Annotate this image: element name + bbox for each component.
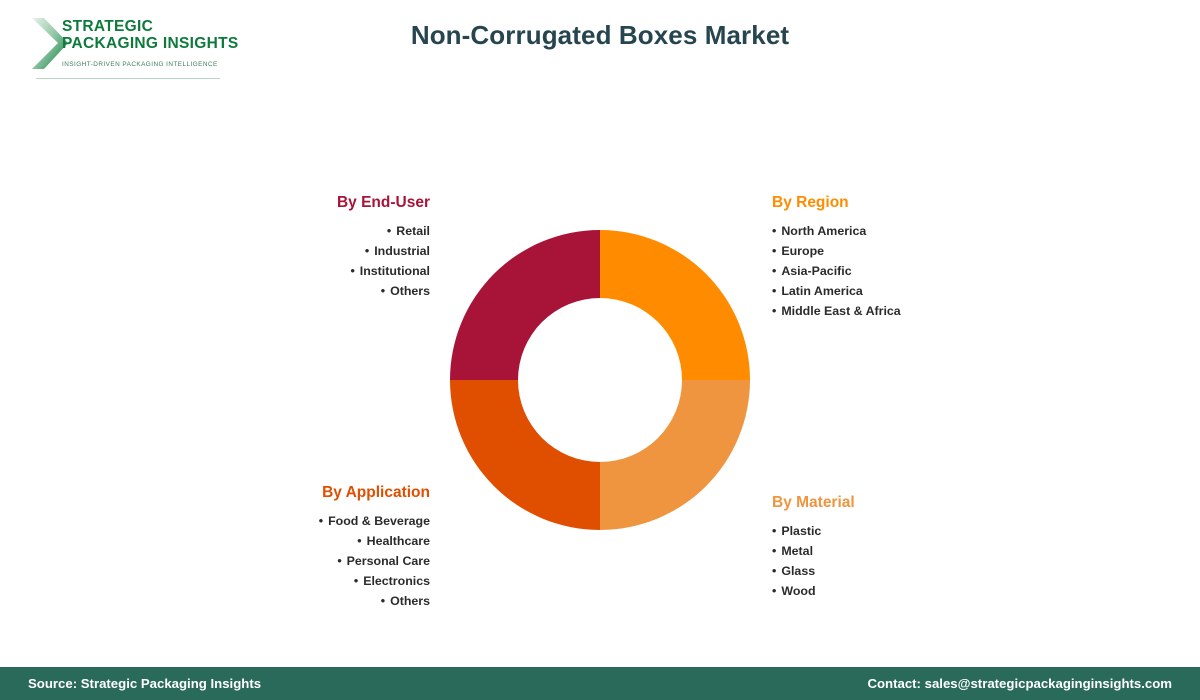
segment-application: By Application Food & Beverage Healthcar… [200,484,430,611]
list-item: Wood [772,581,992,601]
list-item: Industrial [230,241,430,261]
segment-region-list: North America Europe Asia-Pacific Latin … [772,221,1022,321]
segment-region-heading: By Region [772,194,1022,212]
donut-chart-svg [450,230,750,530]
footer-bar: Source: Strategic Packaging Insights Con… [0,667,1200,700]
list-item: Metal [772,541,992,561]
page-title: Non-Corrugated Boxes Market [0,20,1200,51]
donut-slice-material [600,380,750,530]
footer-source: Source: Strategic Packaging Insights [28,676,261,691]
list-item: Personal Care [200,551,430,571]
list-item: North America [772,221,1022,241]
segment-end-user-heading: By End-User [230,194,430,212]
segment-material-list: Plastic Metal Glass Wood [772,521,992,601]
logo-tagline: INSIGHT-DRIVEN PACKAGING INTELLIGENCE [62,61,238,68]
segment-end-user-list: Retail Industrial Institutional Others [230,221,430,301]
segment-material: By Material Plastic Metal Glass Wood [772,494,992,601]
list-item: Retail [230,221,430,241]
list-item: Latin America [772,281,1022,301]
list-item: Electronics [200,571,430,591]
list-item: Others [230,281,430,301]
list-item: Glass [772,561,992,581]
list-item: Europe [772,241,1022,261]
list-item: Others [200,591,430,611]
list-item: Plastic [772,521,992,541]
list-item: Asia-Pacific [772,261,1022,281]
segment-application-heading: By Application [200,484,430,502]
list-item: Middle East & Africa [772,301,1022,321]
list-item: Institutional [230,261,430,281]
segment-end-user: By End-User Retail Industrial Institutio… [230,194,430,301]
logo-divider [36,78,220,79]
donut-slice-end-user [450,230,600,380]
donut-slice-region [600,230,750,380]
segment-application-list: Food & Beverage Healthcare Personal Care… [200,511,430,611]
donut-chart [450,230,750,530]
list-item: Healthcare [200,531,430,551]
list-item: Food & Beverage [200,511,430,531]
segment-material-heading: By Material [772,494,992,512]
donut-slice-application [450,380,600,530]
footer-contact: Contact: sales@strategicpackaginginsight… [867,676,1172,691]
segment-region: By Region North America Europe Asia-Paci… [772,194,1022,321]
